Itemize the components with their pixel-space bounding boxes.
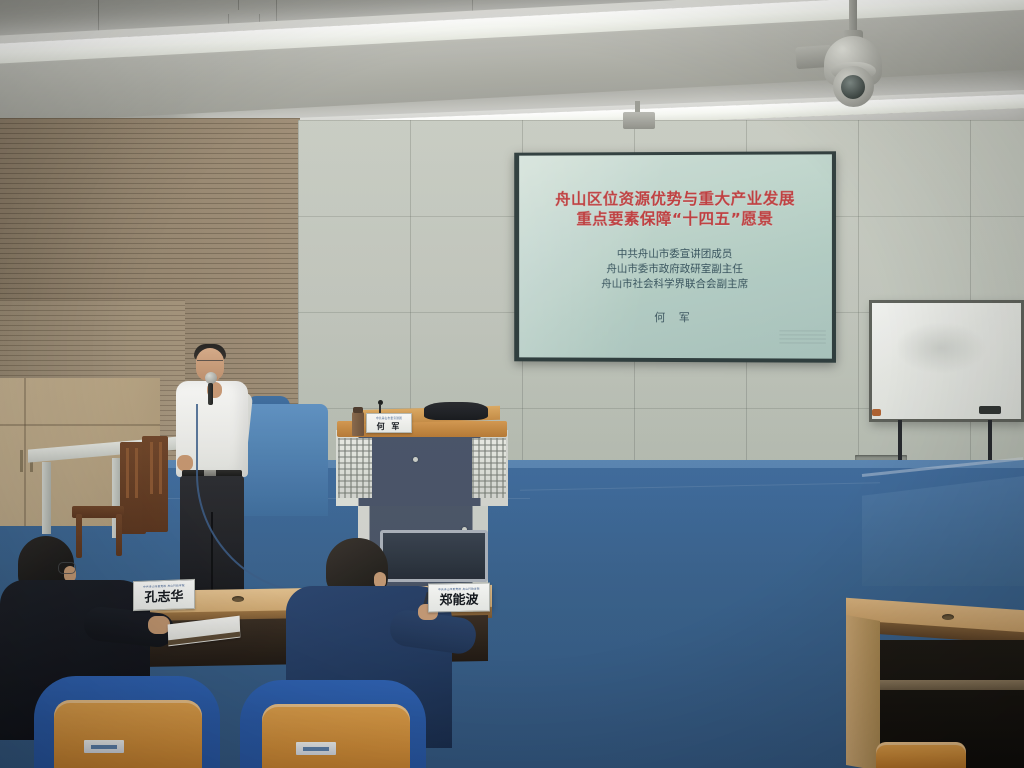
whiteboard-smudge [895,322,987,374]
chair-back-slat [159,442,162,494]
desk-monitor [380,530,488,582]
auditorium-chair-back[interactable] [262,704,410,768]
wooden-chair-leg [116,514,122,556]
camera-lens-icon [841,75,865,99]
side-table-leg [42,462,51,534]
auditorium-chair-back[interactable] [54,700,202,768]
chair-back-slat [150,442,153,494]
wooden-chair[interactable] [142,436,168,532]
chair-tag-bar [303,747,329,751]
ceiling-projector-icon [623,112,655,129]
slide-title-line1: 舟山区位资源优势与重大产业发展 [519,189,832,210]
right-desk-shelf [880,680,1024,690]
desk-cable-grommet [942,614,954,620]
speaker-resting-hand [177,455,193,471]
attendee-left-nameplate: 中共舟山市委党校 舟山行政学院 孔志华 [133,579,195,611]
attendee-right-nameplate-name: 郑能波 [429,591,489,610]
chair-back-slat [135,448,138,498]
chair-seat-tag [84,740,124,753]
slide-corner-watermark [779,330,825,344]
whiteboard-surface [872,303,1021,419]
slide-subtitle-line1: 中共舟山市委宣讲团成员 [519,247,832,262]
camera-ball [833,66,874,107]
cabinet-handle[interactable] [20,450,23,472]
light-hanger-wire [238,0,239,10]
chair-seat-tag [296,742,336,755]
chair-tag-bar [91,745,117,749]
auditorium-chair-back[interactable] [876,742,966,768]
whiteboard-marker-icon [872,409,881,416]
microphone-body [208,383,213,405]
lectern-latch[interactable] [413,457,418,462]
lecture-hall-photo: 舟山区位资源优势与重大产业发展 重点要素保障“十四五”愿景 中共舟山市委宣讲团成… [0,0,1024,768]
whiteboard [869,300,1024,422]
slide-surface: 舟山区位资源优势与重大产业发展 重点要素保障“十四五”愿景 中共舟山市委宣讲团成… [519,154,832,358]
slide-presenter-name: 何 军 [519,309,832,326]
lectern-speaker-grille-right [472,438,506,498]
slide-subtitle-line2: 舟山市委市政府政研室副主任 [519,262,832,277]
desk-cable-grommet [232,596,244,602]
whiteboard-eraser-icon [979,406,1001,414]
attendee-left-nameplate-name: 孔志华 [134,588,194,608]
projection-screen: 舟山区位资源优势与重大产业发展 重点要素保障“十四五”愿景 中共舟山市委宣讲团成… [514,151,836,362]
right-desk-side-panel [846,615,880,768]
slide-subtitle-line3: 舟山市社会科学界联合会副主席 [519,277,832,292]
cabinet-seam [24,378,26,526]
slide-content: 舟山区位资源优势与重大产业发展 重点要素保障“十四五”愿景 中共舟山市委宣讲团成… [519,189,832,326]
wooden-chair-leg [76,514,82,558]
draped-garment [424,402,488,420]
attendee-right-nameplate: 中共舟山市委党校 舟山行政学院 郑能波 [428,582,490,612]
attendee-left-glasses [58,562,76,574]
slide-title-line2: 重点要素保障“十四五”愿景 [519,209,832,230]
chair-back-slat [126,448,129,498]
speaker-glasses [197,360,223,366]
camera-arm [849,0,857,34]
